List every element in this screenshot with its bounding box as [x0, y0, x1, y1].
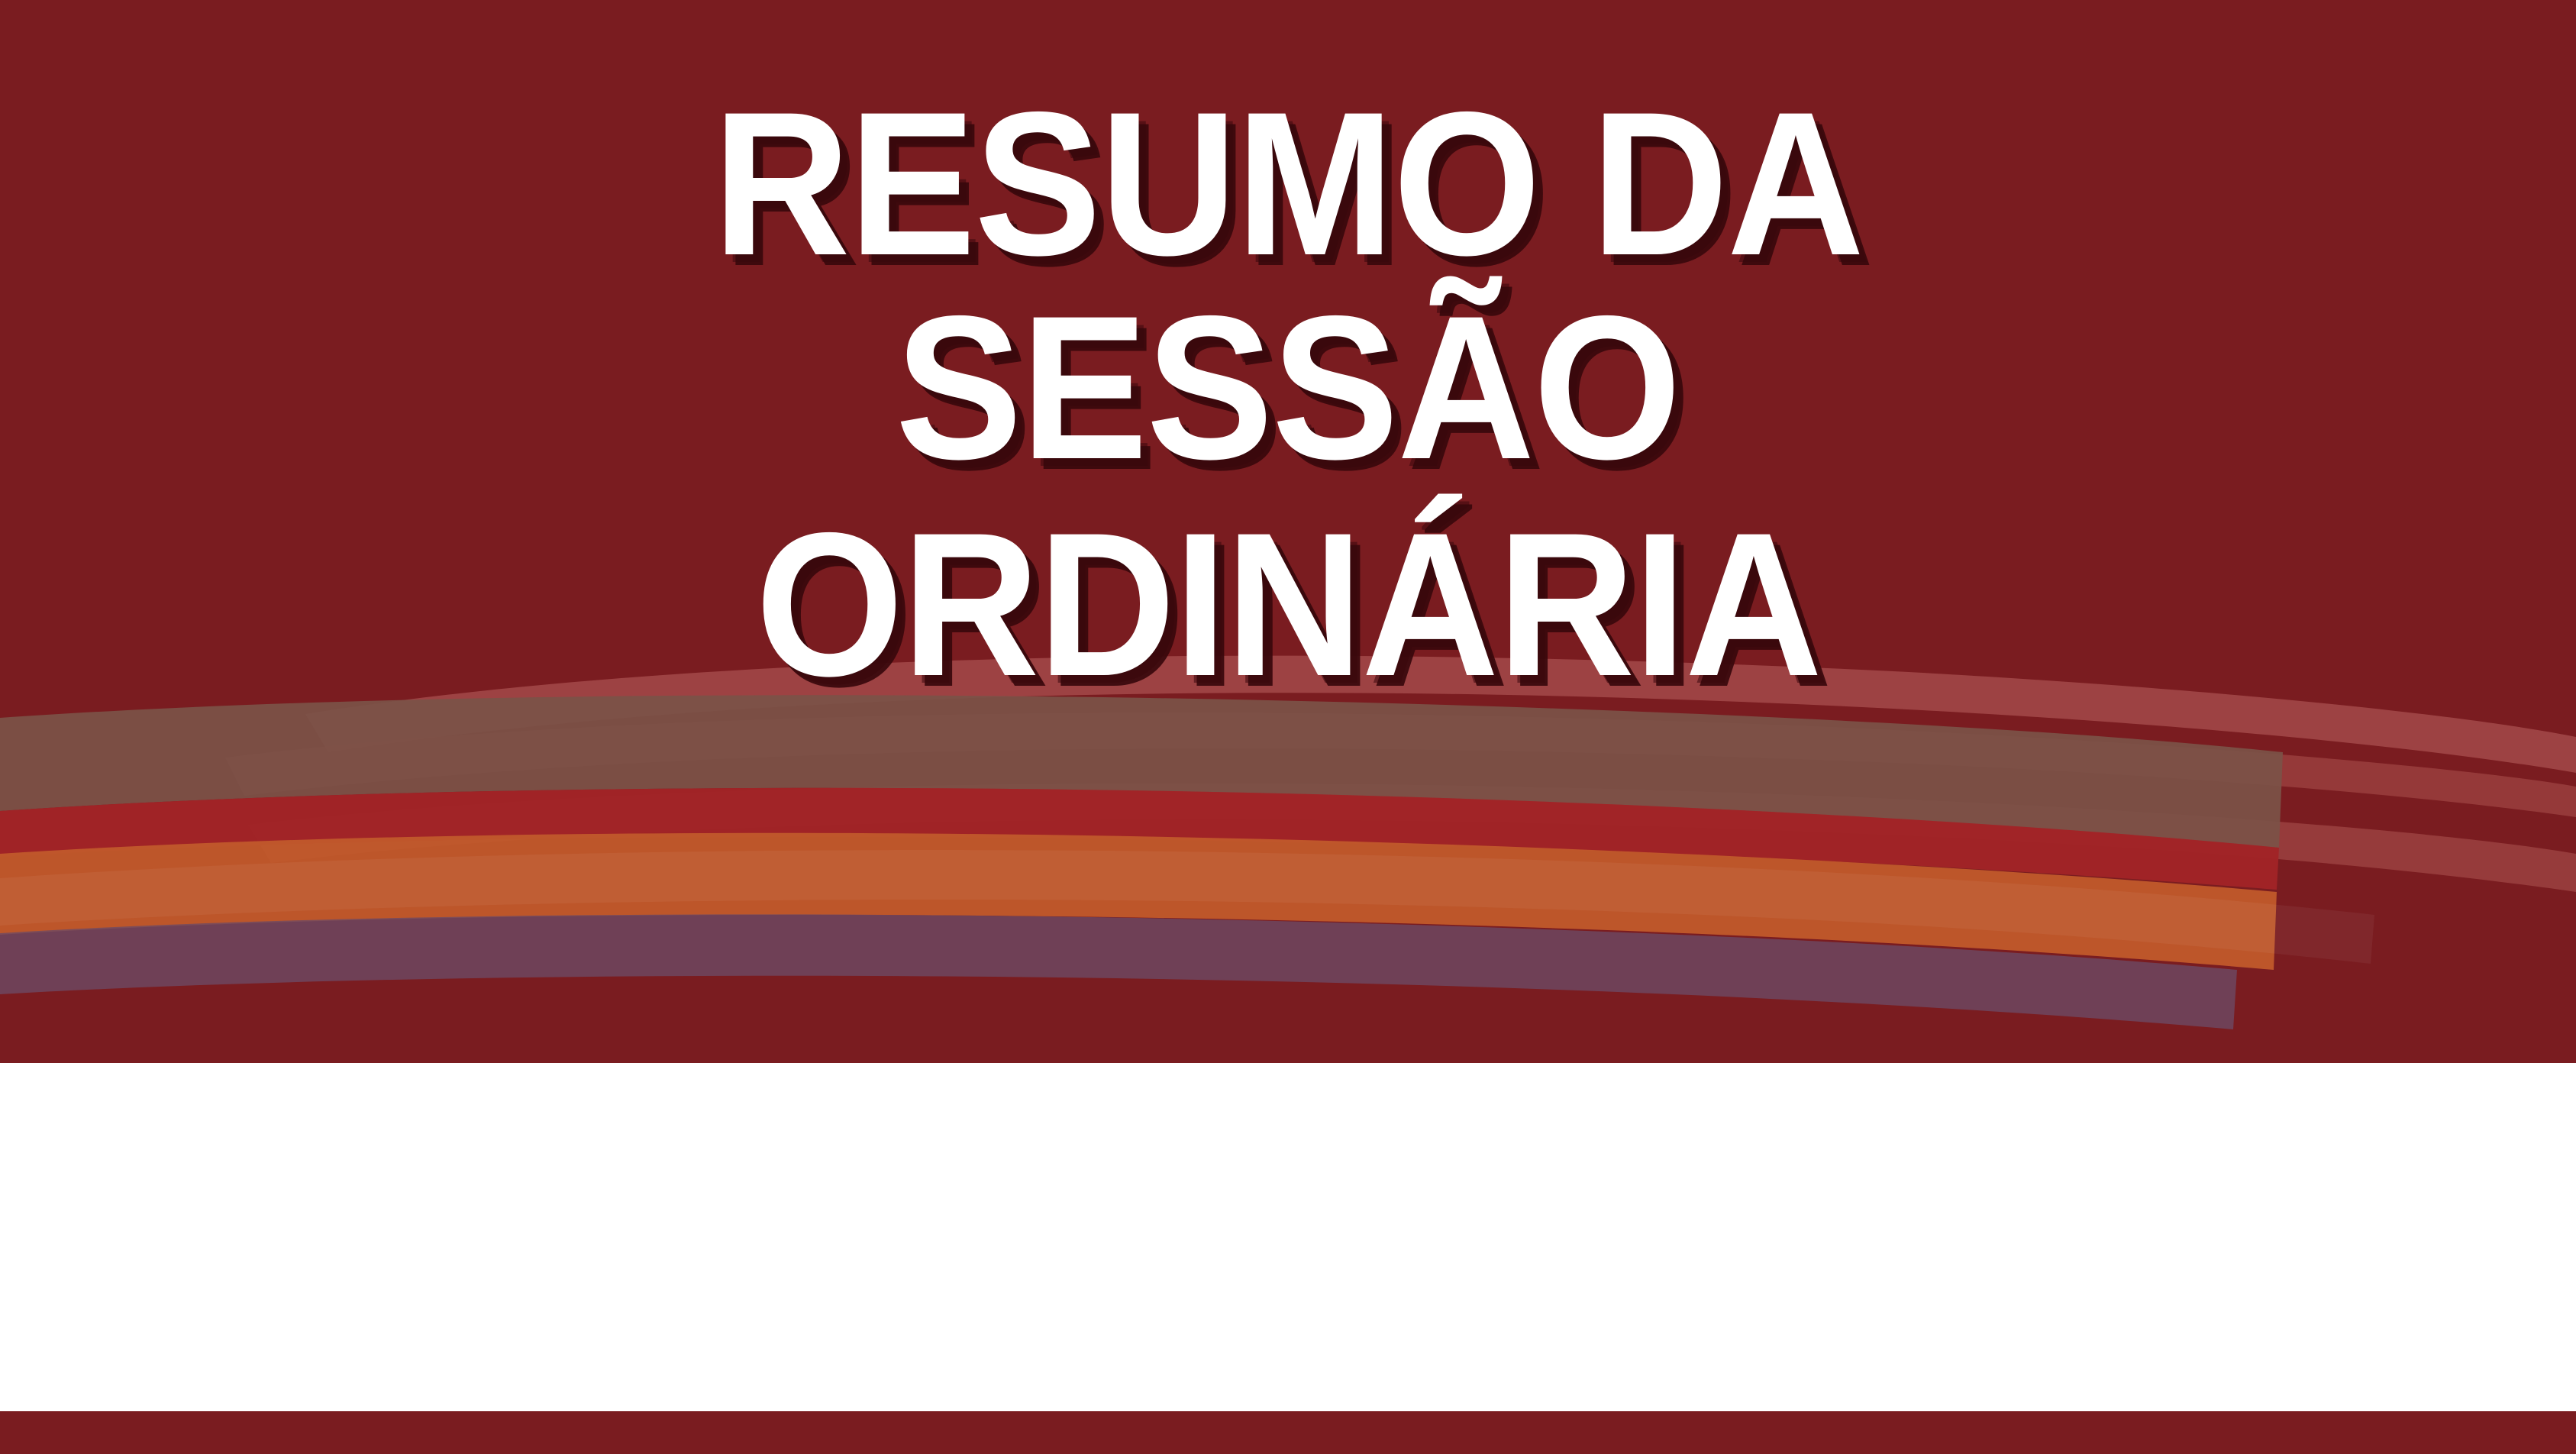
decorative-ribbons [0, 0, 2576, 1063]
bottom-accent-bar [0, 1411, 2576, 1454]
footer-section: /camaraformosa /camarafsa You Tube Câ [0, 1063, 2576, 1411]
poster-canvas: RESUMO DA SESSÃO ORDINÁRIA /camaraformos… [0, 0, 2576, 1454]
hero-section: RESUMO DA SESSÃO ORDINÁRIA [0, 0, 2576, 1063]
